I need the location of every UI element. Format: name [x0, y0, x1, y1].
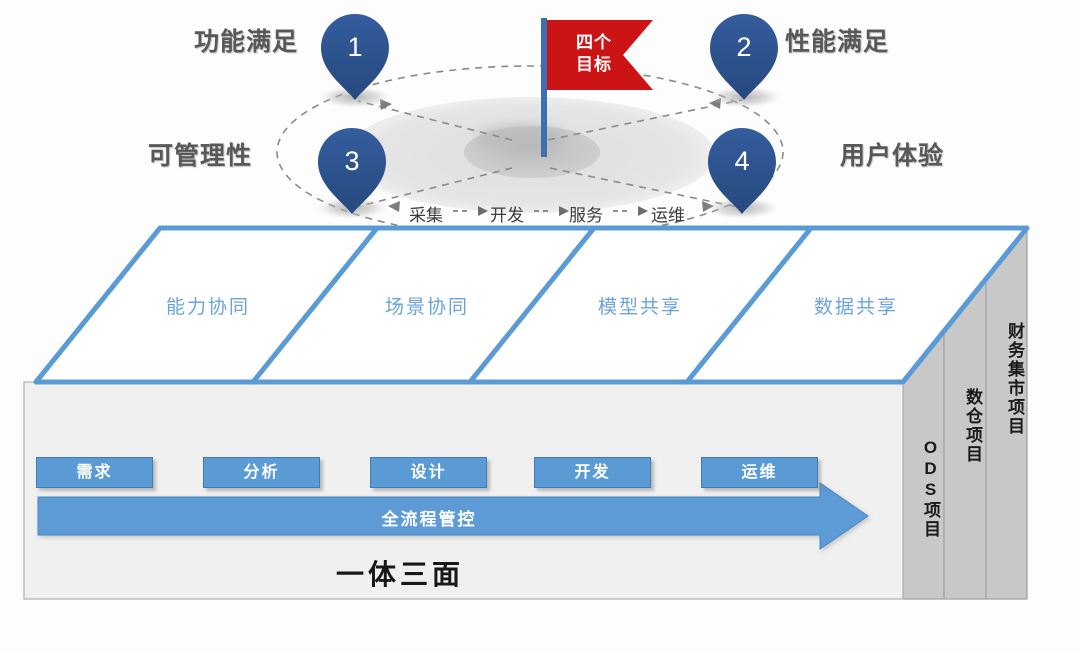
- pin-number-3: 3: [329, 146, 375, 177]
- stage-button-2[interactable]: 分析: [203, 457, 320, 488]
- goal-label-4: 用户体验: [840, 136, 944, 172]
- top-panel-label-3: 模型共享: [598, 292, 682, 319]
- orbit-core-shadow: [476, 123, 564, 153]
- flow-step-4: 运维: [651, 201, 685, 226]
- side-panel-label-finance: 财务集市项目: [1002, 322, 1027, 436]
- side-panel-label-dw: 数仓项目: [960, 388, 985, 464]
- goal-label-3: 可管理性: [148, 136, 252, 172]
- side-panel-label-ods: ODS项目: [918, 438, 943, 539]
- top-panel-label-4: 数据共享: [814, 292, 898, 319]
- diagram-vector-layer: [0, 0, 1080, 651]
- process-arrow-label: 全流程管控: [38, 505, 820, 530]
- bottom-title: 一体三面: [336, 553, 464, 593]
- pin-number-4: 4: [719, 146, 765, 177]
- flag-pole: [541, 18, 547, 157]
- goal-label-1: 功能满足: [194, 22, 298, 58]
- flag-label-line2: 目标: [563, 54, 625, 75]
- stage-button-5[interactable]: 运维: [701, 457, 818, 488]
- stage-button-3[interactable]: 设计: [370, 457, 487, 488]
- pin-number-1: 1: [332, 32, 378, 63]
- diagram-canvas: 功能满足 性能满足 可管理性 用户体验 1 2 3 4 四个 目标 采集 开发 …: [0, 0, 1080, 651]
- stage-button-4[interactable]: 开发: [534, 457, 651, 488]
- stage-button-1[interactable]: 需求: [36, 457, 153, 488]
- goal-label-2: 性能满足: [785, 22, 889, 58]
- flow-step-2: 开发: [490, 201, 524, 226]
- flag-label-line1: 四个: [563, 32, 625, 53]
- top-panel-label-1: 能力协同: [166, 292, 250, 319]
- pin-number-2: 2: [721, 32, 767, 63]
- top-panel-label-2: 场景协同: [385, 292, 469, 319]
- flow-step-1: 采集: [409, 201, 443, 226]
- flow-step-3: 服务: [569, 201, 603, 226]
